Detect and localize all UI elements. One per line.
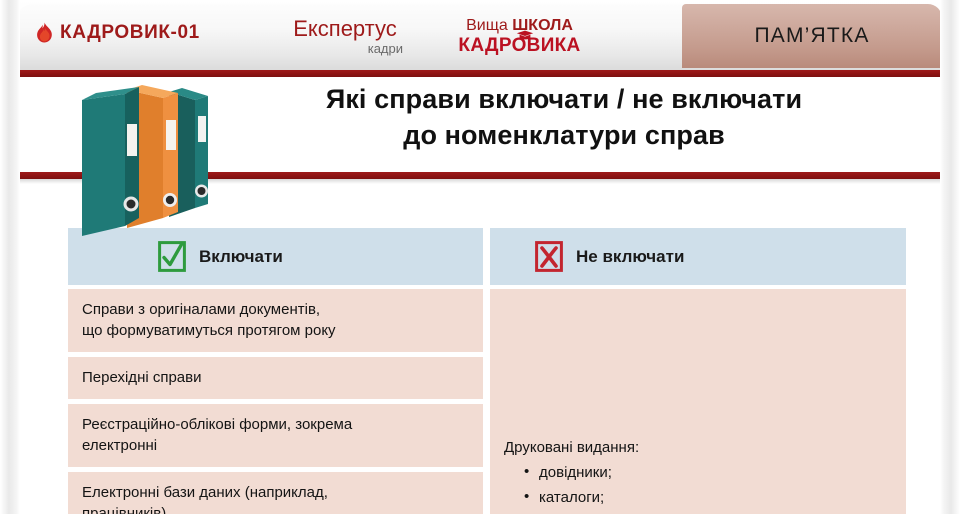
exclude-content: Друковані видання: довідники; каталоги; … [504,437,896,514]
table-row: Реєстраційно-облікові форми, зокрема еле… [68,404,483,467]
list-item: бюлетені; [504,510,896,514]
table-row: Електронні бази даних (наприклад, праців… [68,472,483,514]
table-row: Справи з оригіналами документів, що форм… [68,289,483,352]
binders-illustration [70,78,230,243]
list-item: довідники; [504,460,896,485]
exclude-bullet-list: довідники; каталоги; бюлетені; рефератив… [504,460,896,514]
logo-school-line2-wrap: КАДРОВИКА [437,35,602,56]
logo-expertus[interactable]: Експертус кадри [275,17,415,56]
divider-top [18,70,942,77]
list-item: каталоги; [504,485,896,510]
comparison-table: Включати Не включати Справи з оригіналам… [68,228,906,514]
table-body: Справи з оригіналами документів, що форм… [68,289,906,514]
flame-icon [36,22,53,44]
column-header-exclude-label: Не включати [576,247,684,267]
page-edge-left [0,0,20,514]
column-include-cells: Справи з оригіналами документів, що форм… [68,289,483,514]
infographic-page: КАДРОВИК-01 Експертус кадри Вища ШКОЛА К… [0,0,960,514]
tab-pamyatka-label: ПАМ’ЯТКА [754,24,869,48]
page-title: Які справи включати / не включати до ном… [214,81,914,153]
tab-pamyatka[interactable]: ПАМ’ЯТКА [682,4,942,68]
column-header-include-label: Включати [199,247,283,267]
page-title-line2: до номенклатури справ [214,117,914,153]
brand-header-bar: КАДРОВИК-01 Експертус кадри Вища ШКОЛА К… [0,0,960,70]
column-header-exclude: Не включати [490,228,906,285]
exclude-intro: Друковані видання: [504,437,896,459]
page-edge-right [940,0,960,514]
logo-kadrovik-01[interactable]: КАДРОВИК-01 [36,22,200,44]
table-row: Перехідні справи [68,357,483,399]
column-exclude-cell: Друковані видання: довідники; каталоги; … [490,289,906,514]
logo-kadrovik-label: КАДРОВИК-01 [60,22,200,44]
graduation-cap-icon [516,30,534,40]
page-title-line1: Які справи включати / не включати [326,84,802,114]
checkmark-box-icon [158,241,186,272]
logo-expertus-line2: кадри [275,41,415,56]
logo-expertus-line1: Експертус [275,17,415,41]
cross-box-icon [535,241,563,272]
logo-school-line1-plain: Вища [466,17,512,34]
logo-vyshcha-shkola-kadrovyka[interactable]: Вища ШКОЛА КАДРОВИКА [437,16,602,56]
